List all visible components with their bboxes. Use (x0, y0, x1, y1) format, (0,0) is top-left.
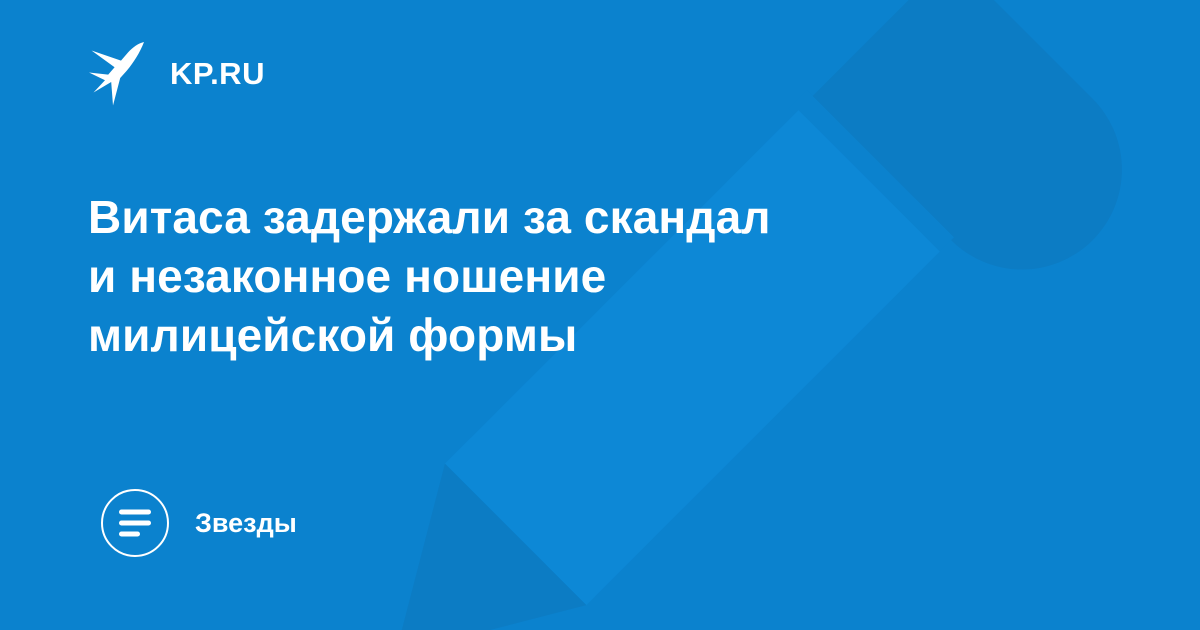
menu-bar-top (119, 510, 151, 515)
headline-line-2: и незаконное ношение (88, 247, 988, 306)
menu-bar-middle (119, 521, 151, 526)
category-badge[interactable]: Звезды (101, 488, 297, 558)
page-title: Витаса задержали за скандал и незаконное… (88, 188, 988, 365)
menu-bar-bottom (119, 532, 140, 537)
category-icon-circle[interactable] (101, 489, 169, 557)
headline-line-3: милицейской формы (88, 306, 988, 365)
category-label: Звезды (195, 510, 297, 537)
hamburger-menu-icon (119, 510, 151, 537)
brand-wordmark: KP.RU (170, 58, 265, 89)
headline-line-1: Витаса задержали за скандал (88, 188, 988, 247)
brand-logo[interactable]: KP.RU (88, 36, 265, 110)
swallow-bird-logo-icon (88, 40, 150, 106)
social-share-card: KP.RU Витаса задержали за скандал и неза… (0, 0, 1200, 630)
